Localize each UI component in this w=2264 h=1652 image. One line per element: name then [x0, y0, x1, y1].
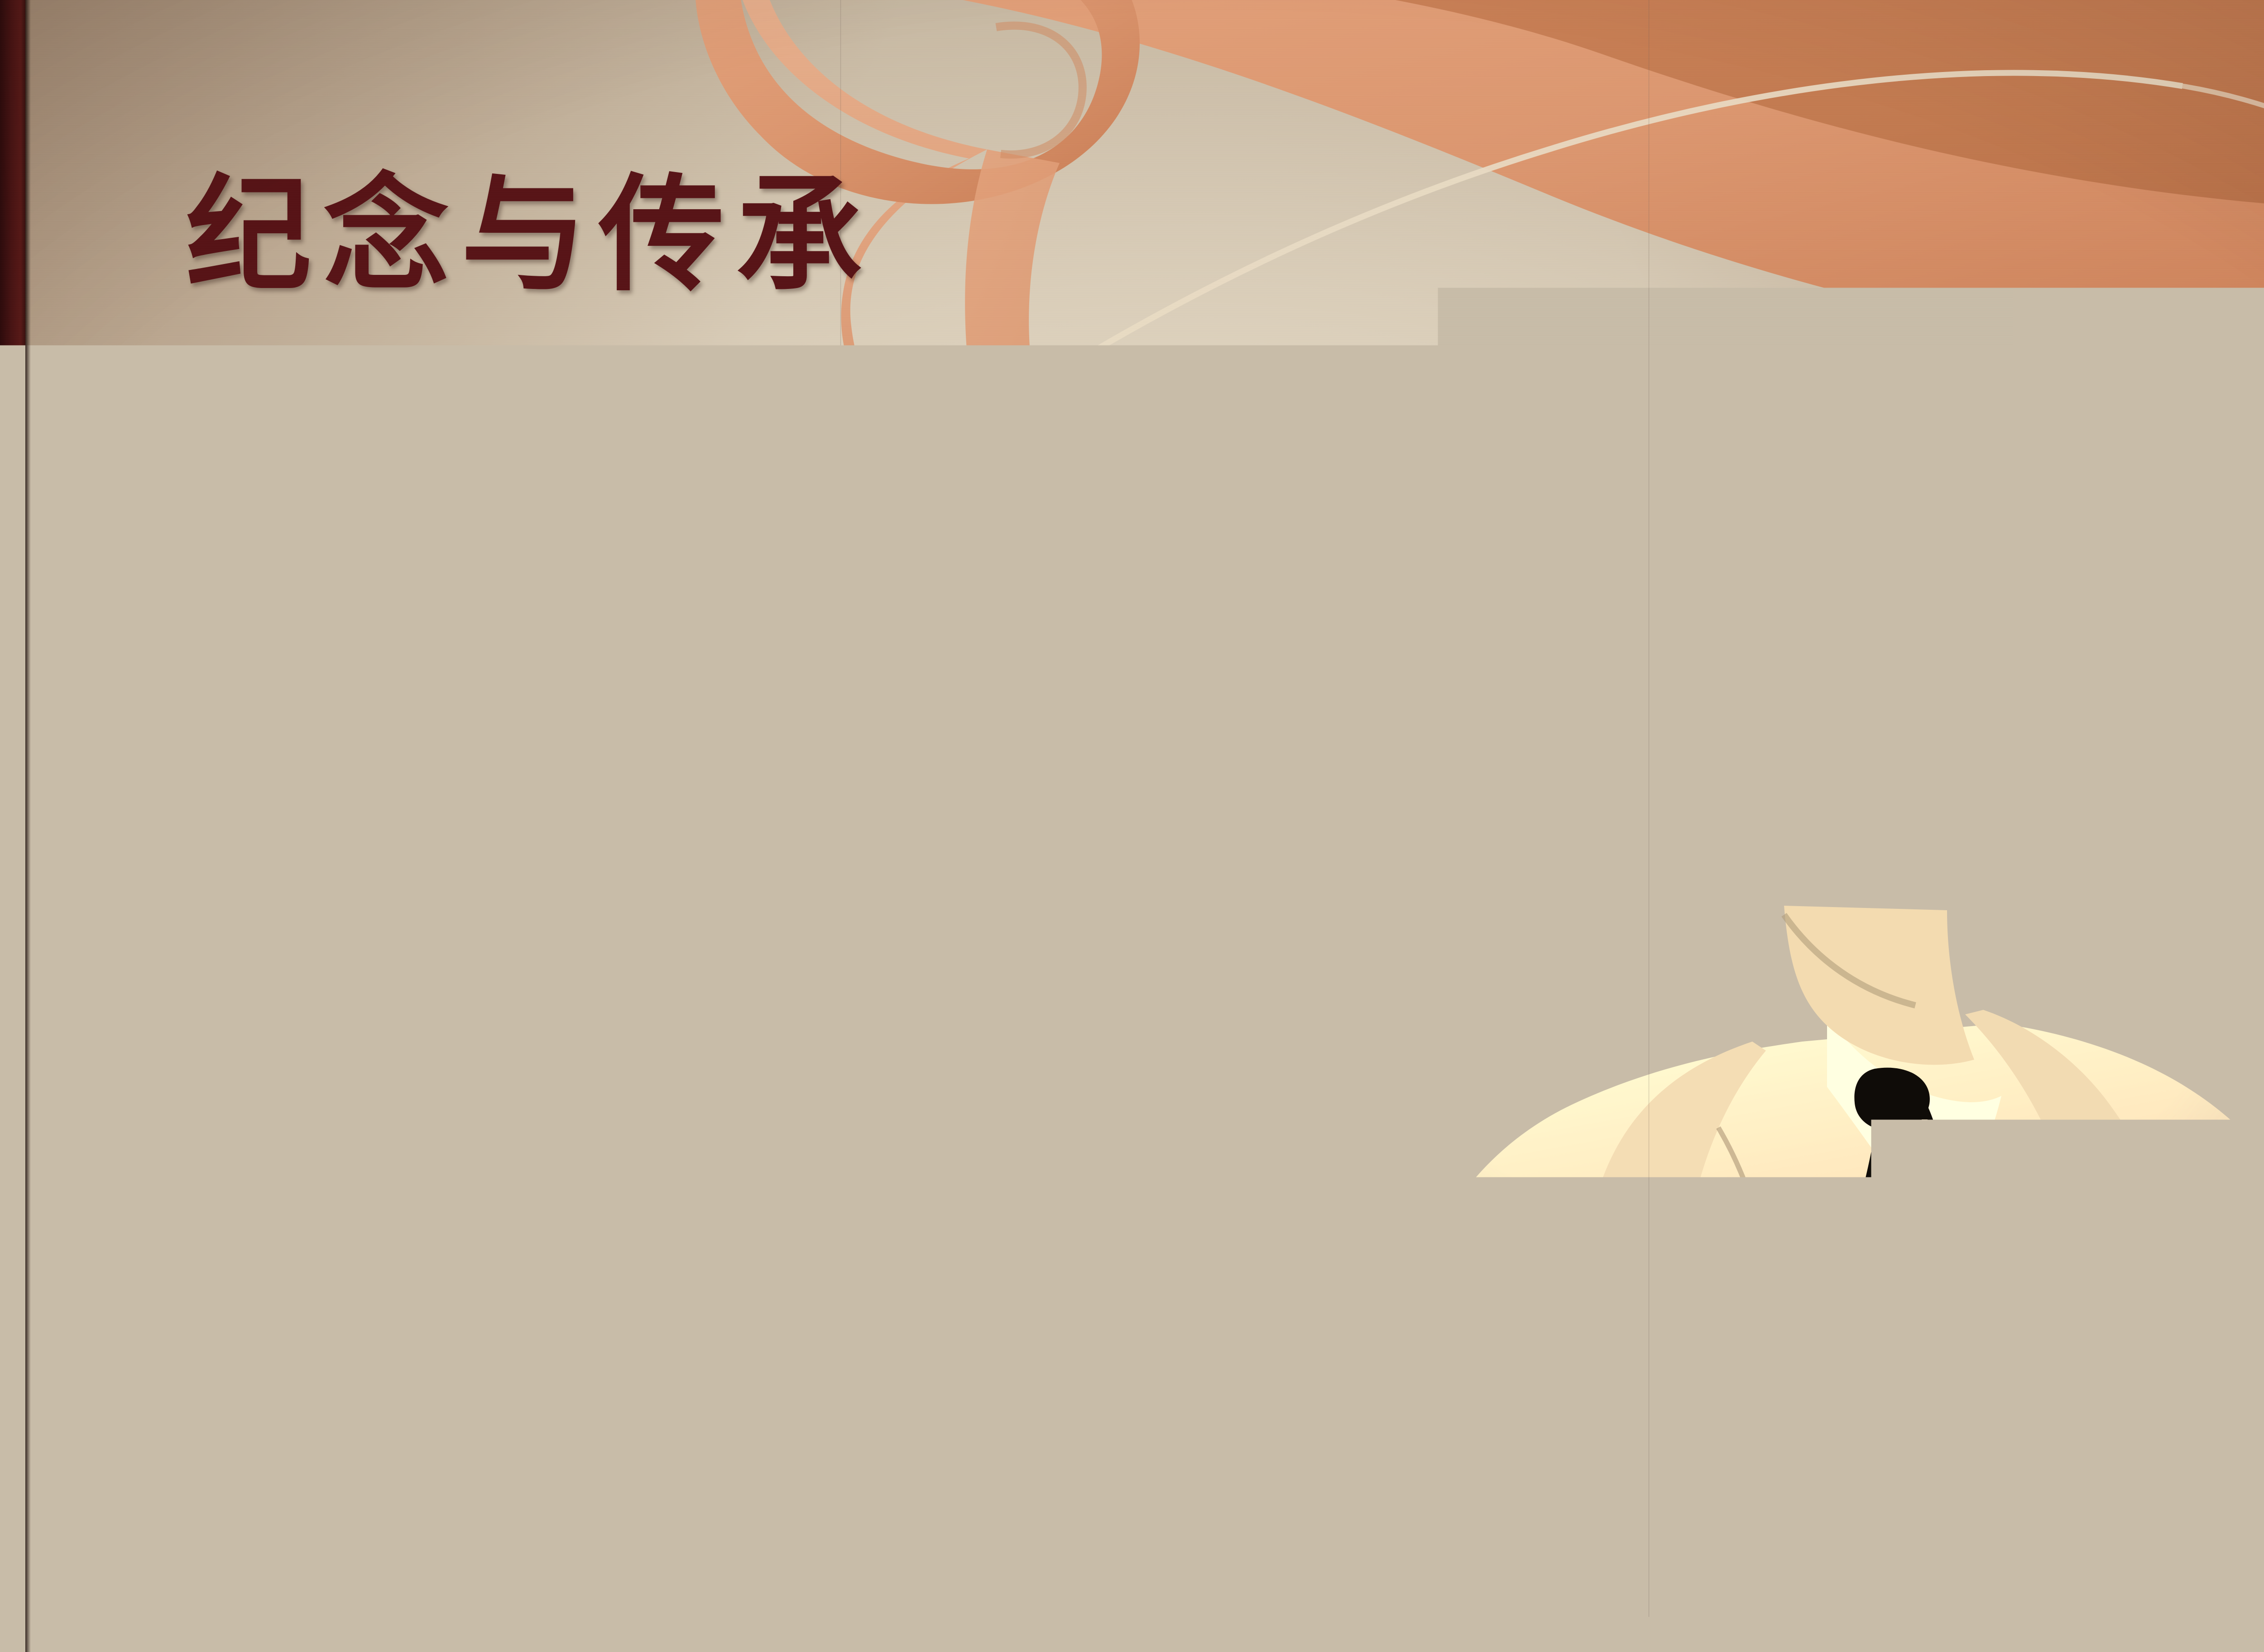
- main-title: 纪念与传承: [186, 172, 1227, 298]
- left-wall-strip-edge: [25, 0, 31, 1652]
- credit-line-date: 举办时间：2023年6月9日: [163, 1280, 1192, 1351]
- panel-seam-vertical-1: [1648, 0, 1650, 1652]
- credit-line-host-2: 山东大学青岛校区党工委组织宣传统战部: [163, 1139, 1192, 1210]
- panel-seam-horizontal-2: [25, 1420, 2264, 1421]
- title-block: 纪念与传承: [186, 172, 1227, 298]
- left-wall-strip: [0, 0, 25, 1652]
- subtitle-row: 华岗诞辰120周年展: [240, 444, 1167, 542]
- panel-seam-horizontal-1: [25, 635, 2264, 636]
- credit-line-organizer: 主办单位：山东大学: [163, 999, 1192, 1069]
- credit-line-host-3: 山东大学博物馆: [163, 1210, 1192, 1281]
- hua-gang-portrait: [1259, 317, 2264, 1458]
- credits-block: 主办单位：山东大学 承办单位：山东大学档案馆（校史办） 山东大学青岛校区党工委组…: [163, 999, 1192, 1351]
- portrait-tie-knot: [1854, 1068, 1930, 1131]
- portrait-nostril: [1784, 930, 1815, 950]
- credit-line-host-1: 承办单位：山东大学档案馆（校史办）: [163, 1069, 1192, 1140]
- exhibition-banner-photo: 纪念与传承 华岗诞辰120周年展 主办单位：山东大学 承办单位：山东大学档案馆（…: [0, 0, 2264, 1652]
- subtitle-text: 华岗诞辰120周年展: [523, 444, 1167, 542]
- subtitle-dash-rule: [240, 488, 498, 499]
